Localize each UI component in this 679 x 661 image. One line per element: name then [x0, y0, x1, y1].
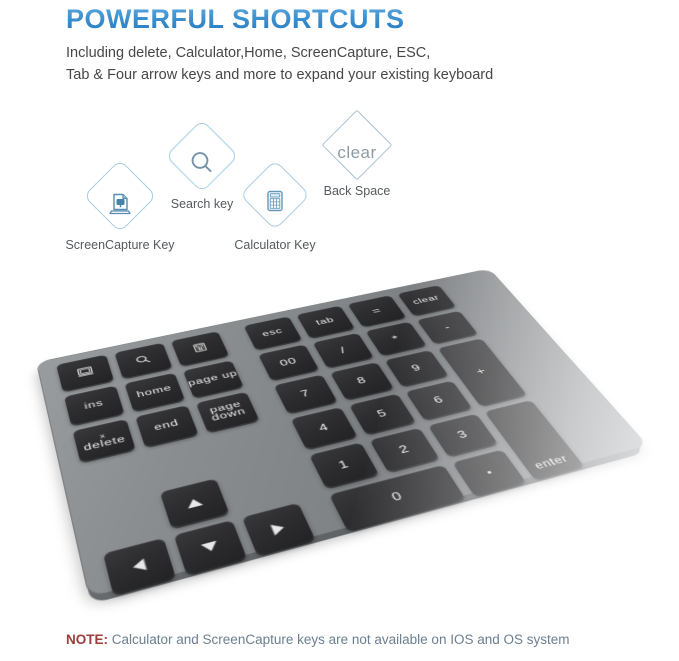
key-4[interactable]: 4 — [291, 407, 358, 449]
key-label: 1 — [337, 459, 351, 471]
key-label: ins — [83, 399, 104, 411]
key-label: + — [474, 366, 488, 375]
key-label: esc — [261, 327, 284, 338]
key-home[interactable]: home — [124, 373, 185, 412]
screencapture-icon — [74, 364, 96, 380]
key-label: 8 — [355, 376, 368, 385]
search-icon — [133, 353, 154, 368]
key-minus[interactable]: - — [417, 311, 478, 344]
key-esc[interactable]: esc — [244, 316, 302, 349]
key-delete[interactable]: x delete — [73, 419, 136, 462]
key-label: 4 — [317, 422, 330, 433]
key-1[interactable]: 1 — [309, 442, 379, 488]
key-tab[interactable]: tab — [296, 306, 354, 338]
key-double-zero[interactable]: 00 — [258, 344, 319, 380]
key-2[interactable]: 2 — [369, 428, 439, 472]
key-arrow-up[interactable] — [160, 478, 229, 528]
arrow-left-icon — [131, 558, 146, 573]
key-label: clear — [411, 294, 441, 306]
key-label: / — [338, 346, 347, 354]
note-prefix: NOTE: — [66, 632, 108, 647]
footer-note: NOTE: Calculator and ScreenCapture keys … — [66, 632, 570, 647]
key-label: home — [136, 384, 173, 399]
keypad-image: esc tab = clear ins home page up 00 / * … — [0, 0, 679, 661]
key-page-up[interactable]: page up — [183, 360, 244, 397]
key-9[interactable]: 9 — [385, 350, 449, 386]
key-label: 2 — [397, 444, 411, 455]
arrow-up-icon — [185, 497, 203, 508]
key-page-down[interactable]: page down — [196, 392, 259, 433]
numeric-keypad: esc tab = clear ins home page up 00 / * … — [37, 269, 647, 596]
key-arrow-right[interactable] — [242, 503, 315, 555]
key-equals[interactable]: = — [348, 295, 407, 326]
calculator-icon — [190, 341, 210, 355]
note-text: Calculator and ScreenCapture keys are no… — [108, 632, 570, 647]
key-field: esc tab = clear ins home page up 00 / * … — [36, 265, 647, 592]
arrow-right-icon — [270, 521, 286, 535]
key-label: 0 — [390, 490, 405, 502]
arrow-down-icon — [201, 540, 219, 552]
key-arrow-down[interactable] — [174, 520, 247, 574]
key-label: - — [442, 323, 452, 331]
key-3[interactable]: 3 — [428, 414, 498, 457]
key-divide[interactable]: / — [313, 333, 374, 368]
key-label: 5 — [375, 408, 388, 418]
key-label: tab — [315, 316, 336, 326]
key-label: end — [153, 419, 180, 433]
period-dot — [486, 470, 491, 473]
key-label: 3 — [455, 429, 469, 440]
key-label: * — [390, 334, 401, 342]
key-label: 7 — [299, 389, 312, 399]
key-6[interactable]: 6 — [405, 381, 472, 420]
key-end[interactable]: end — [135, 405, 198, 447]
key-label: enter — [533, 454, 571, 472]
key-label: 6 — [432, 395, 446, 405]
key-prefix: x — [99, 432, 107, 440]
key-label: page up — [187, 370, 239, 388]
key-8[interactable]: 8 — [330, 362, 394, 400]
key-label: page down — [199, 398, 256, 425]
key-ins[interactable]: ins — [64, 385, 124, 425]
key-label: 00 — [278, 357, 298, 368]
key-arrow-left[interactable] — [103, 538, 176, 595]
key-period[interactable] — [452, 449, 526, 496]
key-7[interactable]: 7 — [274, 375, 338, 414]
key-label: = — [370, 307, 383, 315]
key-search[interactable] — [114, 343, 172, 379]
key-screencapture[interactable] — [56, 355, 114, 392]
key-clear[interactable]: clear — [397, 285, 456, 316]
key-label: 9 — [410, 363, 423, 372]
key-5[interactable]: 5 — [349, 394, 416, 435]
key-calculator[interactable] — [171, 331, 229, 366]
key-multiply[interactable]: * — [365, 322, 426, 356]
